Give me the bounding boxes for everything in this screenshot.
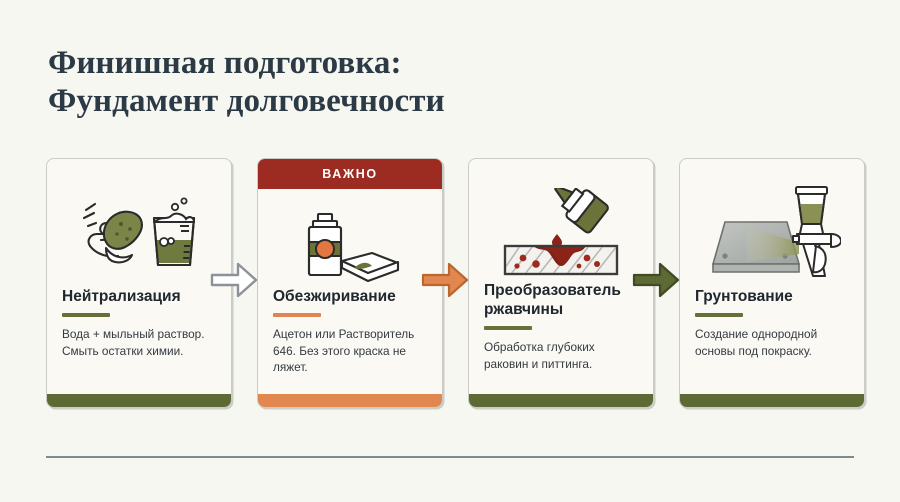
important-ribbon: ВАЖНО: [258, 159, 442, 189]
spray-gun-panel-icon: [680, 181, 864, 286]
arrow-right-icon-2: [421, 258, 469, 302]
step-accent-bar: [484, 326, 532, 330]
page-title-line-1: Финишная подготовка:: [48, 44, 445, 82]
slide-root: Финишная подготовка: Фундамент долговечн…: [0, 0, 900, 502]
step-card-body: Нейтрализация Вода + мыльный раствор. См…: [62, 287, 219, 359]
step-description: Обработка глубоких раковин и питтинга.: [484, 339, 641, 372]
step-description: Создание однородной основы под покраску.: [695, 326, 852, 359]
step-card-neutralization[interactable]: Нейтрализация Вода + мыльный раствор. См…: [46, 158, 232, 408]
step-description: Ацетон или Растворитель 646. Без этого к…: [273, 326, 430, 376]
page-title-line-2: Фундамент долговечности: [48, 82, 445, 120]
step-accent-bar: [62, 313, 110, 317]
step-card-rust-converter[interactable]: Преобразователь ржавчины Обработка глубо…: [468, 158, 654, 408]
arrow-right-icon-3: [632, 258, 680, 302]
step-footer-bar: [258, 394, 442, 407]
step-card-body: Обезжиривание Ацетон или Растворитель 64…: [273, 287, 430, 376]
step-title: Обезжиривание: [273, 287, 430, 306]
step-title: Грунтование: [695, 287, 852, 306]
step-title: Преобразователь ржавчины: [484, 281, 641, 319]
solvent-can-cloth-icon: [258, 195, 442, 300]
arrow-right-icon-1: [210, 258, 258, 302]
step-accent-bar: [273, 313, 321, 317]
hand-sponge-beaker-icon: [47, 181, 231, 286]
step-footer-bar: [47, 394, 231, 407]
step-footer-bar: [469, 394, 653, 407]
process-flow: Нейтрализация Вода + мыльный раствор. См…: [46, 158, 856, 410]
step-footer-bar: [680, 394, 864, 407]
page-title: Финишная подготовка: Фундамент долговечн…: [48, 44, 445, 120]
step-card-body: Грунтование Создание однородной основы п…: [695, 287, 852, 359]
dropper-bottle-rust-icon: [469, 181, 653, 286]
step-card-degreasing[interactable]: ВАЖНО: [257, 158, 443, 408]
step-accent-bar: [695, 313, 743, 317]
step-card-body: Преобразователь ржавчины Обработка глубо…: [484, 281, 641, 372]
step-card-priming[interactable]: Грунтование Создание однородной основы п…: [679, 158, 865, 408]
step-title: Нейтрализация: [62, 287, 219, 306]
step-description: Вода + мыльный раствор. Смыть остатки хи…: [62, 326, 219, 359]
bottom-divider: [46, 456, 854, 458]
